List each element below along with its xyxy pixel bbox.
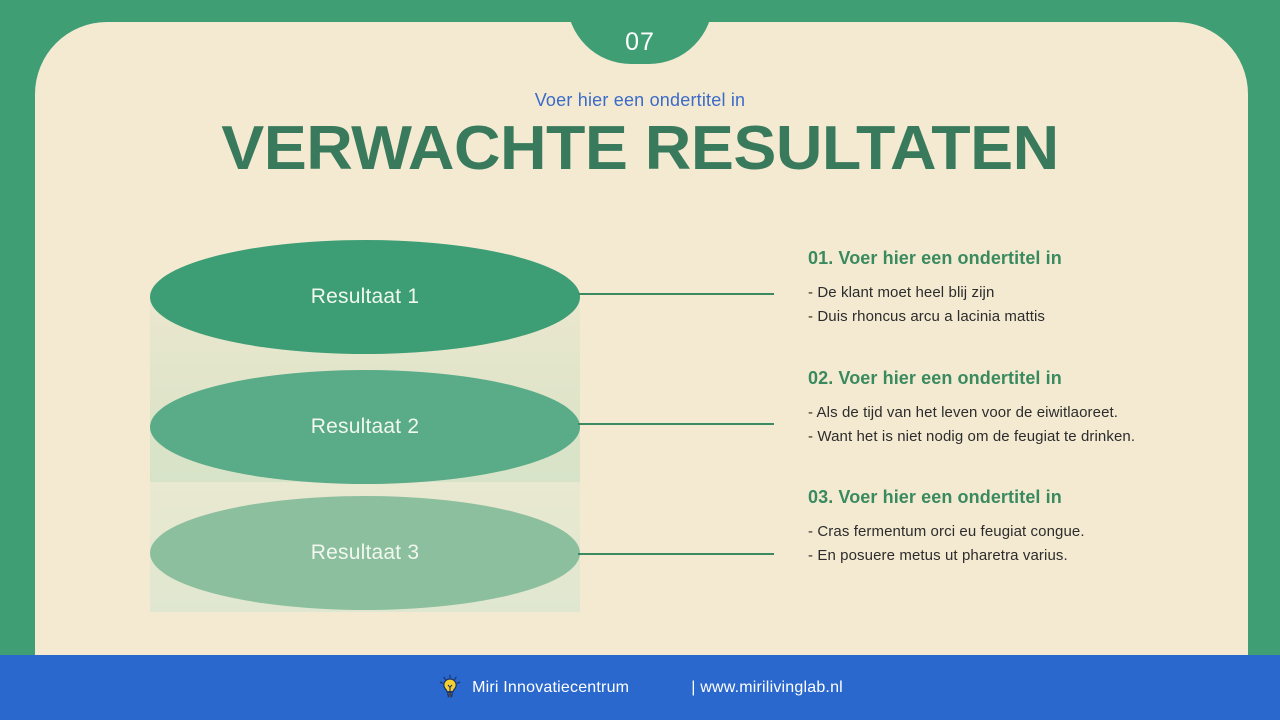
cylinder-layer-2[interactable]: Resultaat 2 — [150, 370, 580, 484]
slide-number-label: 07 — [625, 30, 655, 64]
slide-root: 07 Voer hier een ondertitel in VERWACHTE… — [0, 0, 1280, 720]
result-block-3-line-1: - Cras fermentum orci eu feugiat congue. — [808, 520, 1228, 544]
lightbulb-icon — [437, 674, 463, 700]
page-subtitle: Voer hier een ondertitel in — [0, 90, 1280, 111]
cylinder-layer-1-label: Resultaat 1 — [311, 285, 419, 309]
result-block-1-line-2: - Duis rhoncus arcu a lacinia mattis — [808, 305, 1228, 329]
result-blocks: 01. Voer hier een ondertitel in - De kla… — [808, 248, 1228, 569]
result-block-2-line-2: - Want het is niet nodig om de feugiat t… — [808, 425, 1228, 449]
cylinder-layer-2-label: Resultaat 2 — [311, 415, 419, 439]
cylinder-layer-1[interactable]: Resultaat 1 — [150, 240, 580, 354]
result-block-3-line-2: - En posuere metus ut pharetra varius. — [808, 544, 1228, 568]
cylinder-layer-3-label: Resultaat 3 — [311, 541, 419, 565]
result-block-2: 02. Voer hier een ondertitel in - Als de… — [808, 368, 1228, 450]
result-block-2-title: 02. Voer hier een ondertitel in — [808, 368, 1228, 389]
cylinder-diagram: Resultaat 3 Resultaat 2 Resultaat 1 — [150, 240, 580, 612]
result-block-2-line-1: - Als de tijd van het leven voor de eiwi… — [808, 401, 1228, 425]
connector-line-3 — [578, 553, 774, 555]
page-title: VERWACHTE RESULTATEN — [0, 115, 1280, 183]
cylinder-layer-3[interactable]: Resultaat 3 — [150, 496, 580, 610]
result-block-3: 03. Voer hier een ondertitel in - Cras f… — [808, 487, 1228, 569]
connector-line-1 — [578, 293, 774, 295]
result-block-1: 01. Voer hier een ondertitel in - De kla… — [808, 248, 1228, 330]
result-block-1-title: 01. Voer hier een ondertitel in — [808, 248, 1228, 269]
connector-line-2 — [578, 423, 774, 425]
footer-website[interactable]: | www.mirilivinglab.nl — [691, 679, 843, 697]
result-block-1-line-1: - De klant moet heel blij zijn — [808, 281, 1228, 305]
footer-organization: Miri Innovatiecentrum — [472, 679, 629, 697]
footer-content: Miri Innovatiecentrum | www.mirilivingla… — [437, 675, 843, 701]
result-block-3-title: 03. Voer hier een ondertitel in — [808, 487, 1228, 508]
footer-bar: Miri Innovatiecentrum | www.mirilivingla… — [0, 655, 1280, 720]
